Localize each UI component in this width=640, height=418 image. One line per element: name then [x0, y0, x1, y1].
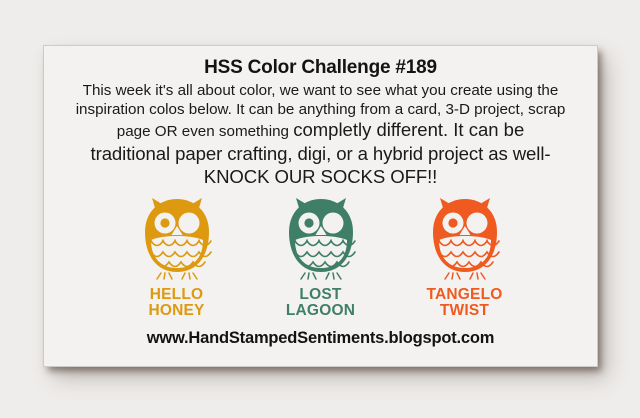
color-swatch-tangelo-twist: TANGELO TWIST: [406, 196, 524, 320]
description-line-4: traditional paper crafting, digi, or a h…: [58, 142, 583, 165]
swatch-label-hello-honey: HELLO HONEY: [118, 287, 236, 320]
page-title: HSS Color Challenge #189: [54, 56, 587, 80]
challenge-card: HSS Color Challenge #189 This week it's …: [44, 46, 597, 366]
owl-icon: [125, 196, 229, 284]
swatch-label-lost-lagoon: LOST LAGOON: [262, 287, 380, 320]
owl-icon: [413, 196, 517, 284]
challenge-graphic: HSS Color Challenge #189 This week it's …: [0, 0, 640, 418]
swatch-name-line-2: LAGOON: [262, 303, 380, 319]
description-line-3-prefix: page OR even something: [117, 123, 293, 140]
swatch-name-line-2: TWIST: [406, 303, 524, 319]
swatch-name-line-1: TANGELO: [406, 287, 524, 303]
description-line-2: inspiration colos below. It can be anyth…: [58, 101, 583, 120]
challenge-description: This week it's all about color, we want …: [54, 82, 587, 189]
swatch-name-line-2: HONEY: [118, 303, 236, 319]
owl-icon: [269, 196, 373, 284]
description-line-3: page OR even something completly differe…: [58, 119, 583, 142]
description-line-1: This week it's all about color, we want …: [58, 82, 583, 101]
blog-url: www.HandStampedSentiments.blogspot.com: [44, 329, 597, 348]
swatch-label-tangelo-twist: TANGELO TWIST: [406, 287, 524, 320]
description-line-5: KNOCK OUR SOCKS OFF!!: [58, 165, 583, 188]
swatch-name-line-1: LOST: [262, 287, 380, 303]
swatch-name-line-1: HELLO: [118, 287, 236, 303]
color-swatch-lost-lagoon: LOST LAGOON: [262, 196, 380, 320]
color-swatch-hello-honey: HELLO HONEY: [118, 196, 236, 320]
description-line-3-emphasis: completly different. It can be: [293, 119, 524, 140]
color-swatch-row: HELLO HONEY: [44, 196, 597, 320]
